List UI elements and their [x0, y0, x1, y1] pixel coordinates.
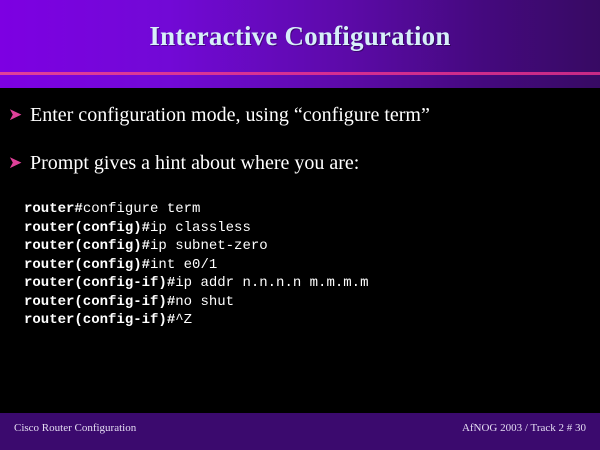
slide-body: ➤ Enter configuration mode, using “confi… [0, 88, 600, 413]
bullet-arrow-icon: ➤ [8, 102, 30, 128]
bullet-text-2: Prompt gives a hint about where you are: [30, 150, 359, 176]
bullet-arrow-icon: ➤ [8, 150, 30, 176]
cli-command: ^Z [175, 312, 192, 328]
cli-prompt: router(config-if)# [24, 275, 175, 291]
cli-command: ip addr n.n.n.n m.m.m.m [175, 275, 368, 291]
cli-line: router(config)#ip subnet-zero [24, 237, 368, 256]
cli-command: int e0/1 [150, 257, 217, 273]
bullet-item-2: ➤ Prompt gives a hint about where you ar… [8, 150, 359, 176]
cli-line: router(config)#int e0/1 [24, 256, 368, 275]
cli-prompt: router(config-if)# [24, 294, 175, 310]
cli-prompt: router# [24, 201, 83, 217]
bullet-item-1: ➤ Enter configuration mode, using “confi… [8, 102, 430, 128]
cli-prompt: router(config)# [24, 220, 150, 236]
cli-prompt: router(config)# [24, 257, 150, 273]
bullet-text-1: Enter configuration mode, using “configu… [30, 102, 430, 128]
slide-footer-band: Cisco Router Configuration AfNOG 2003 / … [0, 413, 600, 450]
cli-prompt: router(config-if)# [24, 312, 175, 328]
cli-line: router(config-if)#no shut [24, 293, 368, 312]
footer-event-and-slide-number: AfNOG 2003 / Track 2 # 30 [462, 422, 586, 434]
cli-transcript-block: router#configure term router(config)#ip … [24, 200, 368, 330]
cli-command: ip subnet-zero [150, 238, 268, 254]
cli-command: configure term [83, 201, 201, 217]
slide-title: Interactive Configuration [0, 0, 600, 72]
header-lower-band [0, 75, 600, 88]
cli-line: router#configure term [24, 200, 368, 219]
cli-line: router(config-if)#^Z [24, 311, 368, 330]
cli-line: router(config)#ip classless [24, 219, 368, 238]
cli-command: ip classless [150, 220, 251, 236]
cli-prompt: router(config)# [24, 238, 150, 254]
presentation-slide: Interactive Configuration ➤ Enter config… [0, 0, 600, 450]
footer-course-title: Cisco Router Configuration [14, 422, 136, 434]
cli-command: no shut [175, 294, 234, 310]
cli-line: router(config-if)#ip addr n.n.n.n m.m.m.… [24, 274, 368, 293]
